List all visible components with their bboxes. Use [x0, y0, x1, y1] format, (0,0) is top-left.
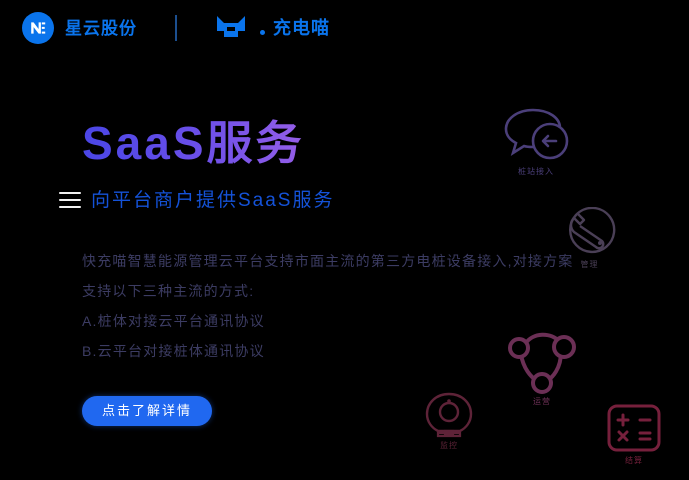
hamburger-icon: [59, 192, 81, 208]
body-copy: 快充喵智慧能源管理云平台支持市面主流的第三方电桩设备接入,对接方案支持以下三种主…: [82, 246, 582, 366]
hero-section: SaaS服务 向平台商户提供SaaS服务 快充喵智慧能源管理云平台支持市面主流的…: [82, 118, 602, 426]
list-item: A.桩体对接云平台通讯协议: [82, 306, 582, 336]
decor-item-settle: 结算: [606, 403, 662, 465]
secondary-brand-logo[interactable]: 充电喵: [215, 15, 330, 41]
nebula-circle-logo-icon: [22, 12, 54, 44]
brand-divider-icon: [175, 15, 177, 41]
charging-cat-dot-icon: [260, 30, 265, 35]
learn-more-button[interactable]: 点击了解详情: [82, 396, 212, 426]
list-item: B.云平台对接桩体通讯协议: [82, 336, 582, 366]
secondary-brand-name: 充电喵: [273, 19, 330, 37]
primary-brand-name: 星云股份: [65, 20, 137, 37]
decor-label-monitor: 监控: [440, 442, 458, 450]
charging-cat-logo-icon: [215, 15, 257, 41]
subtitle-row: 向平台商户提供SaaS服务: [82, 191, 602, 210]
decor-label-settle: 结算: [625, 457, 643, 465]
page-subtitle: 向平台商户提供SaaS服务: [91, 191, 334, 210]
calculator-icon: [606, 403, 662, 453]
primary-brand-logo[interactable]: 星云股份: [22, 12, 137, 44]
page-header: 星云股份 充电喵: [0, 0, 689, 56]
page-title: SaaS服务: [82, 118, 602, 169]
body-paragraph: 快充喵智慧能源管理云平台支持市面主流的第三方电桩设备接入,对接方案支持以下三种主…: [82, 246, 582, 306]
